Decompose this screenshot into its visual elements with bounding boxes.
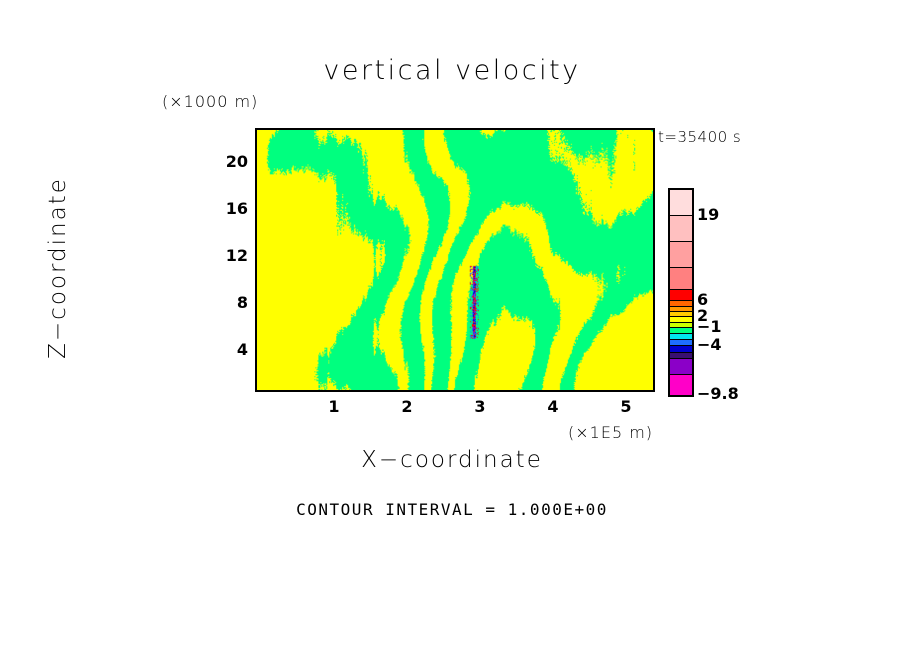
contour-plot-area[interactable] [255,128,655,392]
x-tick-label: 1 [319,397,349,416]
x-axis-title: X−coordinate [0,447,904,473]
colorbar-segment [670,359,692,375]
y-tick-label: 12 [208,246,248,265]
contour-interval-note: CONTOUR INTERVAL = 1.000E+00 [0,500,904,519]
page-title: vertical velocity [0,55,904,86]
y-axis-title: Z−coordinate [45,158,71,378]
x-tick-label: 4 [538,397,568,416]
colorbar-segment [670,346,692,353]
y-tick-label: 4 [208,340,248,359]
colorbar-label: −9.8 [697,384,739,403]
colorbar-label: −4 [697,335,722,354]
y-tick-label: 8 [208,293,248,312]
x-axis-unit-label: (×1E5 m) [568,423,653,442]
timestamp-label: t=35400 s [658,128,741,146]
colorbar-segment [670,190,692,216]
colorbar-segment [670,242,692,268]
colorbar-segment [670,290,692,301]
colorbar[interactable] [668,188,694,397]
x-tick-label: 5 [611,397,641,416]
y-tick-label: 20 [208,152,248,171]
colorbar-label: 19 [697,205,719,224]
y-tick-label: 16 [208,199,248,218]
x-tick-label: 2 [392,397,422,416]
colorbar-label: −1 [697,317,722,336]
vertical-velocity-field [257,130,653,390]
colorbar-segment [670,268,692,290]
colorbar-segment [670,375,692,395]
x-tick-label: 3 [465,397,495,416]
colorbar-segment [670,216,692,242]
y-axis-unit-label: (×1000 m) [162,92,258,111]
